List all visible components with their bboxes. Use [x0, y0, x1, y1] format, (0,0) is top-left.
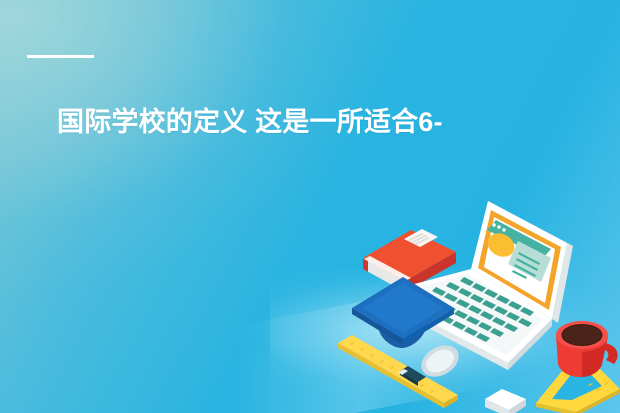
title-divider [27, 55, 94, 58]
slide-canvas: 国际学校的定义 这是一所适合6- [0, 0, 620, 413]
page-title: 国际学校的定义 这是一所适合6- [57, 106, 617, 138]
eraser-illustration [485, 389, 526, 413]
coffee-mug-illustration [556, 321, 618, 377]
illustration-education-desk [330, 196, 620, 413]
